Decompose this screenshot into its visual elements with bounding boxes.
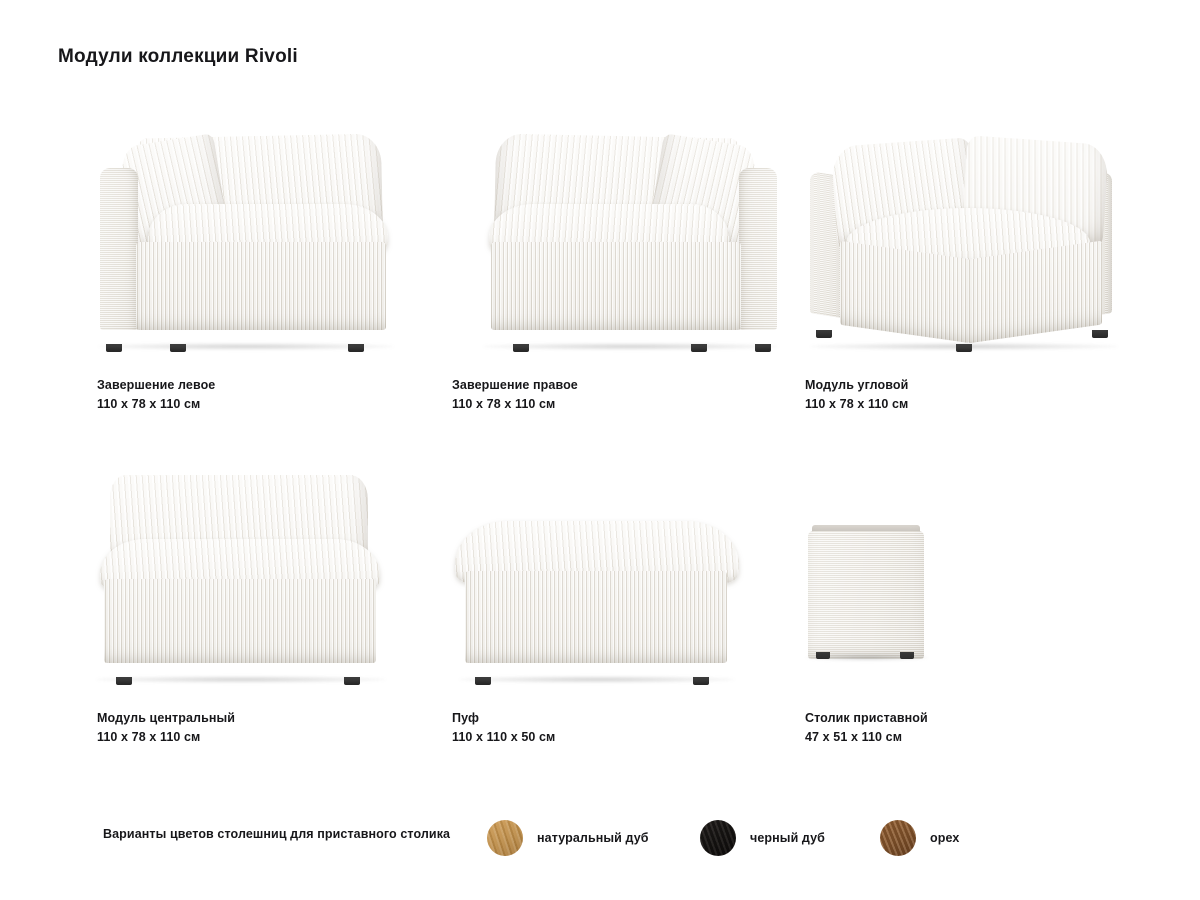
wood-swatch-black-oak-icon[interactable] [700, 820, 736, 856]
module-row: Завершение левое 110 x 78 x 110 см [0, 130, 1200, 463]
module-card-left-end[interactable]: Завершение левое 110 x 78 x 110 см [96, 130, 426, 463]
base-right-facet [968, 241, 1102, 344]
module-card-side-table[interactable]: Столик приставной 47 x 51 x 110 см [804, 463, 1134, 796]
module-dimensions: 110 x 78 x 110 см [97, 395, 427, 414]
module-dimensions: 110 x 78 x 110 см [805, 395, 1135, 414]
foot [1092, 330, 1108, 338]
module-dimensions: 110 x 78 x 110 см [452, 395, 782, 414]
module-caption: Столик приставной 47 x 51 x 110 см [805, 709, 1135, 747]
module-caption: Завершение правое 110 x 78 x 110 см [452, 376, 782, 414]
module-dimensions: 110 x 110 x 50 см [452, 728, 782, 747]
drop-shadow [98, 343, 394, 350]
module-card-center[interactable]: Модуль центральный 110 x 78 x 110 см [96, 463, 426, 796]
module-name: Завершение правое [452, 376, 782, 395]
table-body [808, 531, 924, 659]
module-caption: Модуль угловой 110 x 78 x 110 см [805, 376, 1135, 414]
module-row: Модуль центральный 110 x 78 x 110 см Пуф… [0, 463, 1200, 796]
armrest-right [739, 168, 777, 330]
drop-shadow [806, 654, 928, 661]
wood-swatch-walnut-icon[interactable] [880, 820, 916, 856]
sofa-left-end-module-icon [96, 130, 426, 352]
base-block [136, 242, 386, 330]
pouf-icon [451, 463, 781, 685]
drop-shadow [96, 676, 386, 683]
armrest-left [100, 168, 138, 330]
swatch-option-walnut[interactable]: орех [880, 820, 959, 856]
module-name: Завершение левое [97, 376, 427, 395]
page-title: Модули коллекции Rivoli [58, 46, 298, 68]
module-grid: Завершение левое 110 x 78 x 110 см [0, 130, 1200, 796]
sofa-right-end-module-icon [451, 130, 781, 352]
module-name: Модуль центральный [97, 709, 427, 728]
swatch-option-black-oak[interactable]: черный дуб [700, 820, 825, 856]
legend-label: Варианты цветов столешниц для приставног… [103, 827, 450, 841]
pouf-base [465, 571, 727, 663]
swatch-option-natural-oak[interactable]: натуральный дуб [487, 820, 649, 856]
base-left-facet [840, 241, 970, 343]
module-dimensions: 110 x 78 x 110 см [97, 728, 427, 747]
module-name: Модуль угловой [805, 376, 1135, 395]
swatch-label: черный дуб [750, 831, 825, 845]
wood-swatch-natural-oak-icon[interactable] [487, 820, 523, 856]
drop-shadow [483, 343, 779, 350]
module-dimensions: 47 x 51 x 110 см [805, 728, 1135, 747]
module-caption: Пуф 110 x 110 x 50 см [452, 709, 782, 747]
swatch-label: орех [930, 831, 959, 845]
module-card-corner[interactable]: Модуль угловой 110 x 78 x 110 см [804, 130, 1134, 463]
base-block [491, 242, 741, 330]
sofa-corner-module-icon [804, 130, 1134, 352]
base-block [104, 579, 376, 663]
module-caption: Модуль центральный 110 x 78 x 110 см [97, 709, 427, 747]
swatch-label: натуральный дуб [537, 831, 649, 845]
foot [816, 330, 832, 338]
sofa-center-module-icon [96, 463, 426, 685]
module-card-right-end[interactable]: Завершение правое 110 x 78 x 110 см [451, 130, 781, 463]
color-options-legend: Варианты цветов столешниц для приставног… [0, 812, 1200, 862]
module-card-pouf[interactable]: Пуф 110 x 110 x 50 см [451, 463, 781, 796]
module-name: Пуф [452, 709, 782, 728]
drop-shadow [810, 343, 1118, 350]
side-table-icon [804, 463, 1134, 685]
drop-shadow [459, 676, 735, 683]
module-name: Столик приставной [805, 709, 1135, 728]
module-caption: Завершение левое 110 x 78 x 110 см [97, 376, 427, 414]
